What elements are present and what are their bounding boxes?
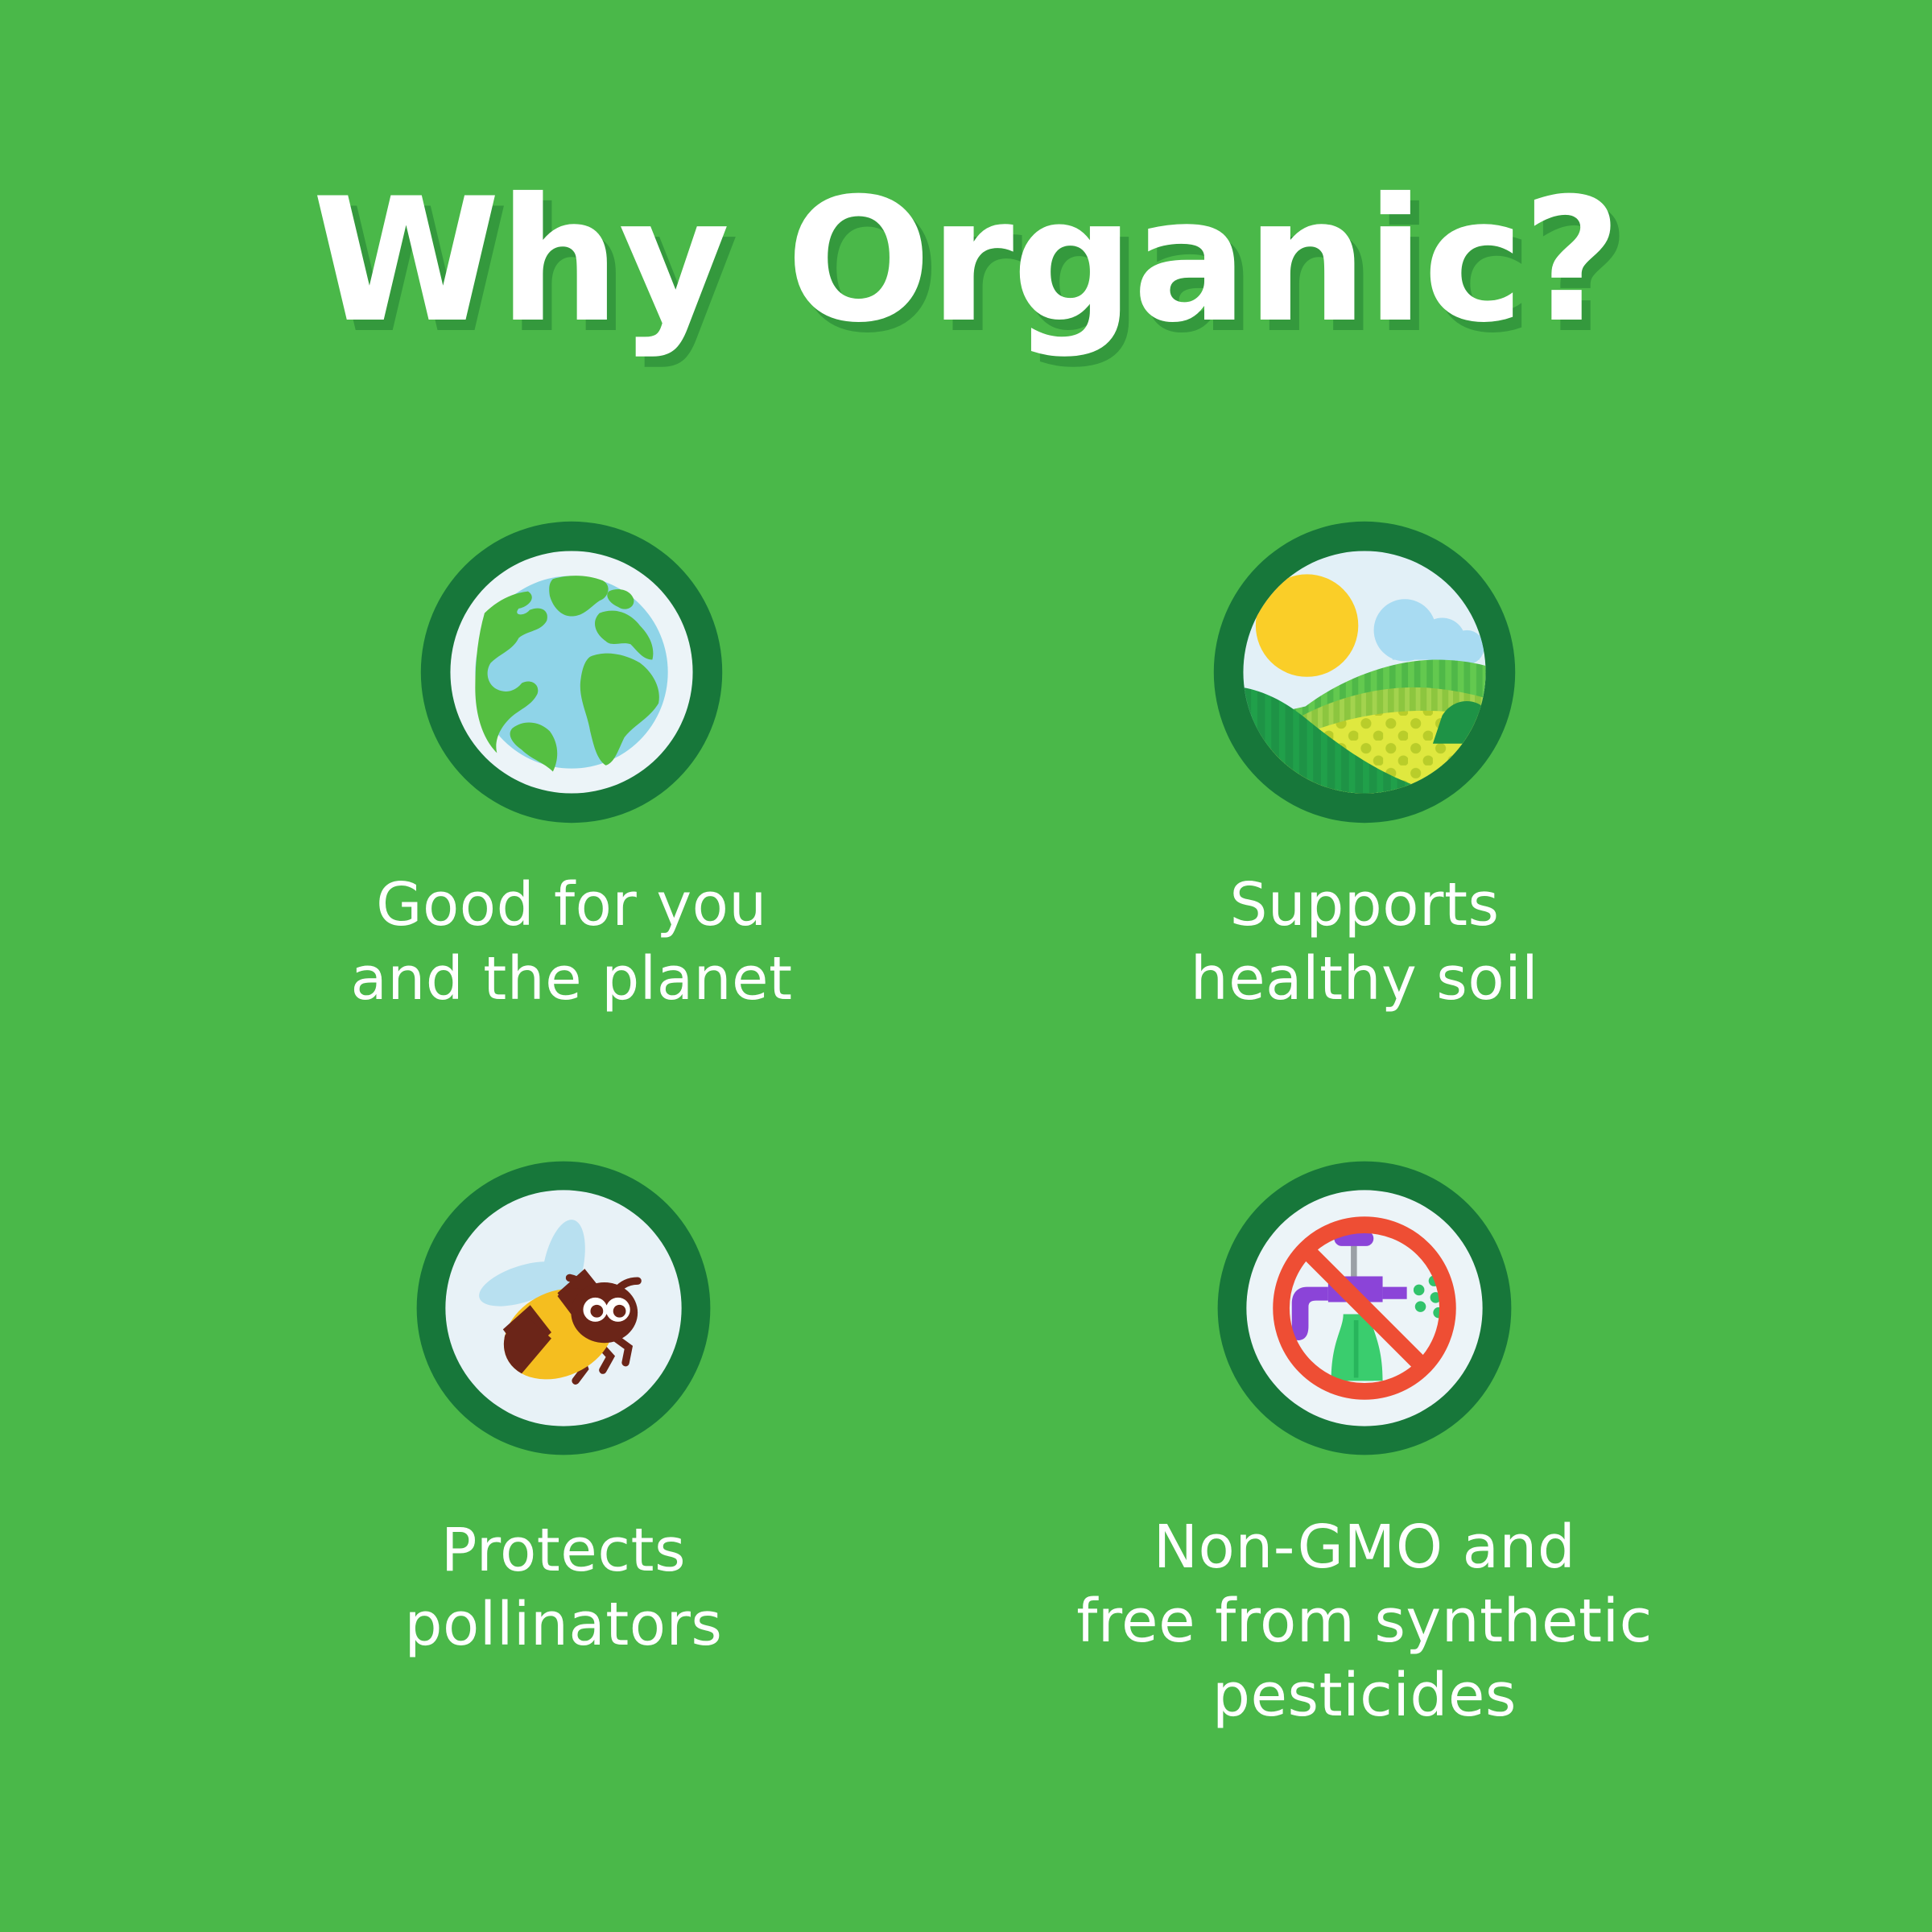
benefit-caption: Supports healthy soil [962, 868, 1767, 1016]
benefit-card-good-for-you-and-the-planet: Good for you and the planet [169, 515, 974, 1016]
benefit-card-supports-healthy-soil: Supports healthy soil [962, 515, 1767, 1016]
bee-icon [412, 1157, 715, 1459]
benefit-card-non-gmo-free-from-synthetic-pesticides: Non-GMO and free from synthetic pesticid… [962, 1151, 1767, 1732]
benefits-grid: Good for you and the planet [0, 515, 1932, 1884]
farm-landscape-icon [1209, 517, 1520, 828]
icon-slot [962, 515, 1767, 829]
benefit-card-protects-pollinators: Protects pollinators [161, 1151, 966, 1662]
icon-slot [161, 1151, 966, 1465]
page-title-wrapper: Why Organic? [0, 175, 1932, 346]
page-title: Why Organic? [312, 175, 1620, 346]
benefit-caption: Good for you and the planet [169, 868, 974, 1016]
icon-slot [962, 1151, 1767, 1465]
benefit-caption: Protects pollinators [161, 1513, 966, 1662]
benefit-caption: Non-GMO and free from synthetic pesticid… [962, 1510, 1767, 1732]
globe-icon [416, 517, 727, 828]
icon-slot [169, 515, 974, 829]
no-pesticides-icon [1213, 1157, 1516, 1459]
infographic-poster: Why Organic? [0, 0, 1932, 1932]
